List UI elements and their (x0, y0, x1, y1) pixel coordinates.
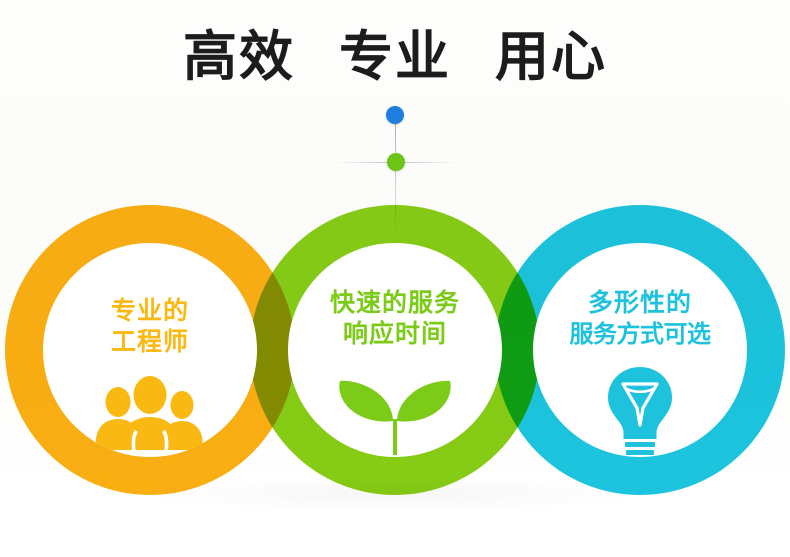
circle-response-line1: 快速的服务 (330, 288, 460, 317)
circle-engineers-line1: 专业的 (111, 296, 189, 325)
circle-response-label: 快速的服务 响应时间 (288, 287, 502, 349)
circle-service-modes-line2: 服务方式可选 (533, 319, 747, 350)
lightbulb-icon (533, 367, 747, 457)
circle-service-modes-line1: 多形性的 (588, 288, 692, 317)
circle-response-line2: 响应时间 (288, 318, 502, 349)
people-icon (43, 376, 257, 455)
sprout-icon (288, 371, 502, 457)
circle-response[interactable]: 快速的服务 响应时间 (288, 243, 502, 457)
circle-service-modes-label: 多形性的 服务方式可选 (533, 287, 747, 350)
circle-service-modes[interactable]: 多形性的 服务方式可选 (533, 243, 747, 457)
circle-engineers-line2: 工程师 (43, 326, 257, 357)
circle-engineers-label: 专业的 工程师 (43, 295, 257, 357)
circle-engineers[interactable]: 专业的 工程师 (43, 243, 257, 457)
promo-poster: 高效专业用心 专业的 工程师 (0, 0, 790, 557)
